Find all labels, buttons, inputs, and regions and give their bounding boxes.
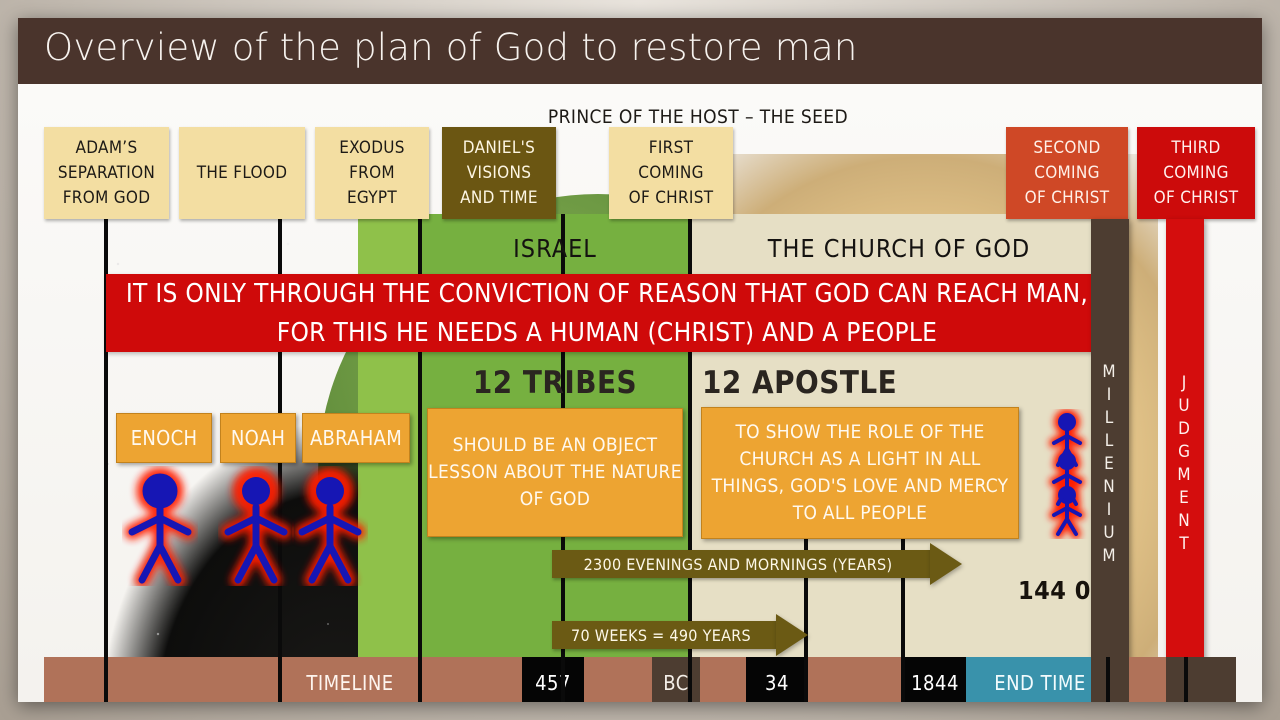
event-line: DANIEL'S — [460, 136, 538, 161]
patriarch-box-enoch[interactable]: ENOCH — [116, 413, 212, 463]
patriarch-box-noah[interactable]: NOAH — [220, 413, 296, 463]
band-label-church-of-god: THE CHURCH OF GOD — [690, 234, 1108, 263]
timeline-segment — [584, 657, 652, 702]
timeline-divider — [1184, 657, 1188, 702]
event-line: SEPARATION — [58, 161, 155, 186]
apostle-line-1: TO SHOW THE ROLE OF THE — [735, 421, 984, 443]
title-bar: Overview of the plan of God to restore m… — [18, 18, 1262, 84]
timeline-divider — [278, 657, 282, 702]
red-banner: IT IS ONLY THROUGH THE CONVICTION OF REA… — [106, 274, 1108, 352]
timeline-divider — [1106, 657, 1110, 702]
banner-line-2: FOR THIS HE NEEDS A HUMAN (CHRIST) AND A… — [106, 314, 1108, 353]
event-line: COMING — [1154, 161, 1239, 186]
timeline-divider — [901, 657, 905, 702]
vbar-letter: I — [1107, 384, 1114, 407]
vertical-bar-judgment[interactable]: J U D G M E N T — [1166, 219, 1204, 702]
event-line: EXODUS — [339, 136, 405, 161]
timeline-segment — [44, 657, 106, 702]
event-box-third-coming-of-christ[interactable]: THIRD COMING OF CHRIST — [1137, 127, 1255, 219]
timeline-divider — [804, 657, 808, 702]
event-box-daniels-visions-and-time[interactable]: DANIEL'S VISIONS AND TIME — [442, 127, 556, 219]
timeline-bar: TIMELINE 457 BC 34 1844 END TIME — [44, 657, 1236, 702]
event-line: VISIONS — [460, 161, 538, 186]
timeline-divider — [418, 657, 422, 702]
timeline-segment — [1129, 657, 1166, 702]
event-line: SECOND — [1025, 136, 1110, 161]
vbar-letter: M — [1102, 545, 1117, 568]
vbar-letter: L — [1105, 430, 1116, 453]
apostle-line-2: CHURCH AS A LIGHT IN ALL — [739, 448, 980, 470]
event-line: OF CHRIST — [629, 186, 714, 211]
arrow-label: 2300 EVENINGS AND MORNINGS (YEARS) — [584, 555, 893, 574]
event-line: AND TIME — [460, 186, 538, 211]
person-figure-noah — [218, 466, 294, 591]
apostle-line-3: THINGS, GOD'S LOVE AND MERCY — [712, 475, 1009, 497]
band-label-israel: ISRAEL — [420, 234, 690, 263]
arrow-label: 70 WEEKS = 490 YEARS — [571, 626, 751, 645]
event-line: ADAM’S — [58, 136, 155, 161]
event-line: THE FLOOD — [197, 161, 288, 186]
vbar-letter: U — [1178, 395, 1191, 418]
timeline-segment-millennium — [1091, 657, 1129, 702]
event-line: OF CHRIST — [1025, 186, 1110, 211]
event-box-adams-separation[interactable]: ADAM’S SEPARATION FROM GOD — [44, 127, 169, 219]
vbar-letter: E — [1104, 453, 1116, 476]
vbar-letter: N — [1178, 510, 1191, 533]
banner-line-1: IT IS ONLY THROUGH THE CONVICTION OF REA… — [106, 275, 1108, 314]
event-line: EGYPT — [339, 186, 405, 211]
vbar-letter: J — [1182, 372, 1189, 395]
event-line: THIRD — [1154, 136, 1239, 161]
vbar-letter: U — [1103, 522, 1116, 545]
tribes-line-1: SHOULD BE AN OBJECT — [453, 434, 658, 456]
event-box-second-coming-of-christ[interactable]: SECOND COMING OF CHRIST — [1006, 127, 1128, 219]
vbar-letter: T — [1179, 533, 1190, 556]
event-line: COMING — [629, 161, 714, 186]
timeline-segment — [420, 657, 535, 702]
timeline-marker-34: 34 — [746, 657, 808, 702]
person-figure-enoch — [122, 466, 198, 591]
vbar-letter: D — [1178, 418, 1192, 441]
page-title: Overview of the plan of God to restore m… — [44, 26, 857, 69]
event-line: FROM — [339, 161, 405, 186]
vbar-letter: G — [1178, 441, 1192, 464]
slide: Overview of the plan of God to restore m… — [18, 18, 1262, 702]
apostle-description-box[interactable]: TO SHOW THE ROLE OF THE CHURCH AS A LIGH… — [701, 407, 1019, 539]
event-line: FROM GOD — [58, 186, 155, 211]
vbar-letter: L — [1105, 407, 1116, 430]
event-line: FIRST — [629, 136, 714, 161]
prince-of-the-host-label: PRINCE OF THE HOST – THE SEED — [538, 106, 858, 128]
section-header-12-apostle: 12 APOSTLE — [702, 365, 897, 401]
tribes-description-box[interactable]: SHOULD BE AN OBJECT LESSON ABOUT THE NAT… — [427, 408, 683, 537]
timeline-divider — [688, 657, 692, 702]
timeline-segment — [808, 657, 904, 702]
timeline-label-main: TIMELINE — [280, 657, 420, 702]
vbar-letter: I — [1107, 499, 1114, 522]
tribes-line-2: LESSON — [428, 461, 498, 483]
timeline-segment — [106, 657, 280, 702]
person-figure-abraham — [292, 466, 368, 591]
section-header-12-tribes: 12 TRIBES — [420, 365, 690, 401]
apostle-line-4: TO ALL PEOPLE — [793, 502, 928, 524]
timeline-divider — [561, 657, 565, 702]
tribes-line-3: ABOUT THE NATURE OF GOD — [504, 461, 682, 510]
timeline-divider — [104, 657, 108, 702]
patriarch-box-abraham[interactable]: ABRAHAM — [302, 413, 410, 463]
event-box-exodus-from-egypt[interactable]: EXODUS FROM EGYPT — [315, 127, 429, 219]
vertical-bar-millennium[interactable]: M I L L E N I U M — [1091, 219, 1129, 702]
person-figures-144000 — [1040, 409, 1094, 544]
timeline-marker-bc: BC — [652, 657, 700, 702]
vbar-letter: M — [1177, 464, 1192, 487]
vbar-letter: M — [1102, 361, 1117, 384]
timeline-marker-1844: 1844 — [904, 657, 966, 702]
arrow-70-weeks: 70 WEEKS = 490 YEARS — [552, 621, 808, 649]
timeline-marker-457: 457 — [522, 657, 584, 702]
event-box-the-flood[interactable]: THE FLOOD — [179, 127, 305, 219]
event-box-first-coming-of-christ[interactable]: FIRST COMING OF CHRIST — [609, 127, 733, 219]
event-line: OF CHRIST — [1154, 186, 1239, 211]
vbar-letter: N — [1103, 476, 1116, 499]
timeline-segment — [1166, 657, 1236, 702]
slide-canvas: PRINCE OF THE HOST – THE SEED ADAM’S SEP… — [18, 84, 1262, 702]
arrow-2300-evenings: 2300 EVENINGS AND MORNINGS (YEARS) — [552, 550, 962, 578]
event-line: COMING — [1025, 161, 1110, 186]
vbar-letter: E — [1179, 487, 1191, 510]
